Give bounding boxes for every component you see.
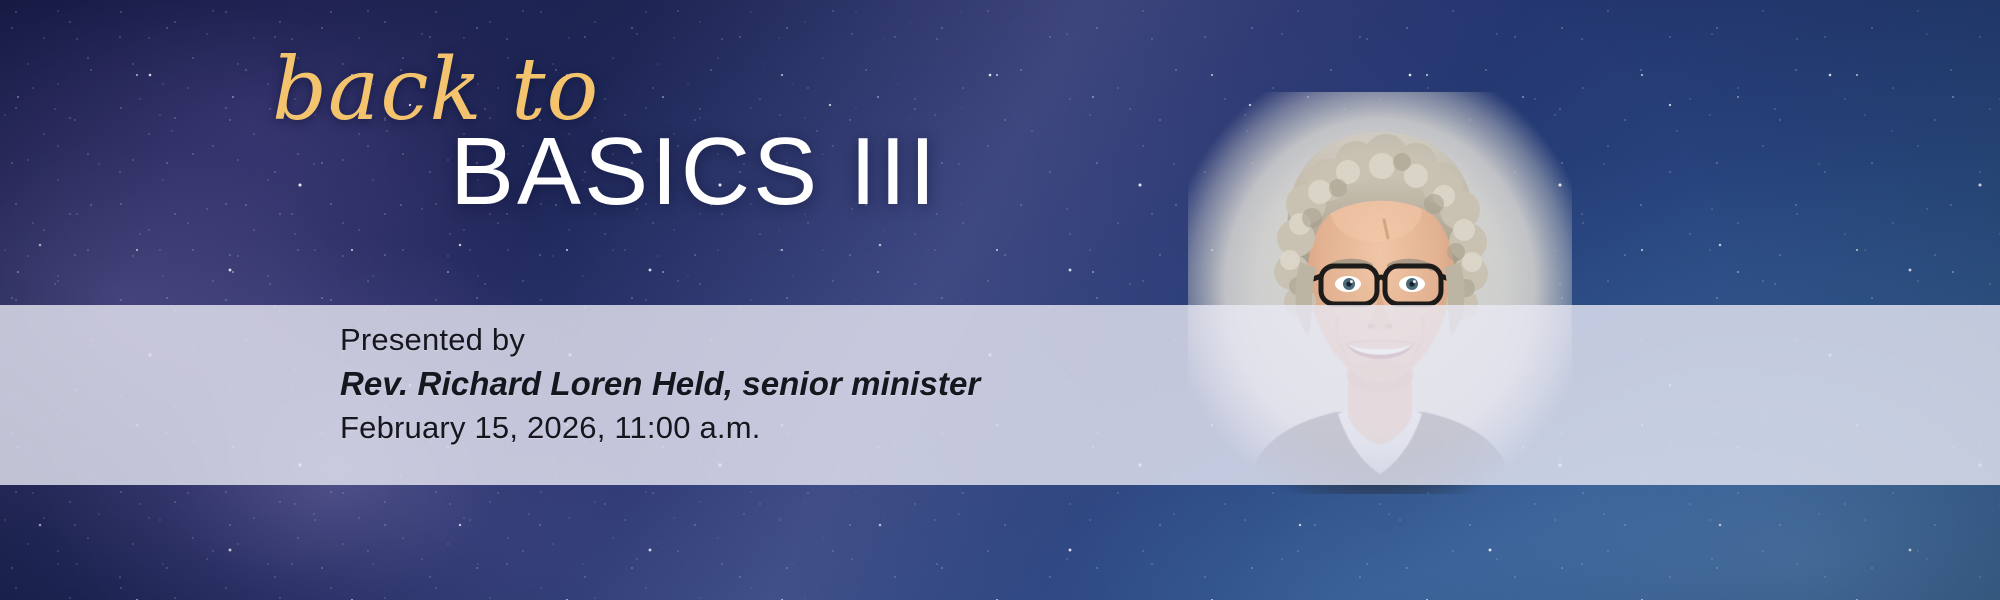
event-datetime: February 15, 2026, 11:00 a.m. — [340, 408, 980, 448]
info-band — [0, 305, 2000, 485]
speaker-name: Rev. Richard Loren Held, senior minister — [340, 362, 980, 406]
event-details: Presented by Rev. Richard Loren Held, se… — [340, 320, 980, 449]
page-title: BASICS III — [450, 124, 939, 220]
event-banner: back to BASICS III Presented by Rev. Ric… — [0, 0, 2000, 600]
presented-by-label: Presented by — [340, 320, 980, 360]
